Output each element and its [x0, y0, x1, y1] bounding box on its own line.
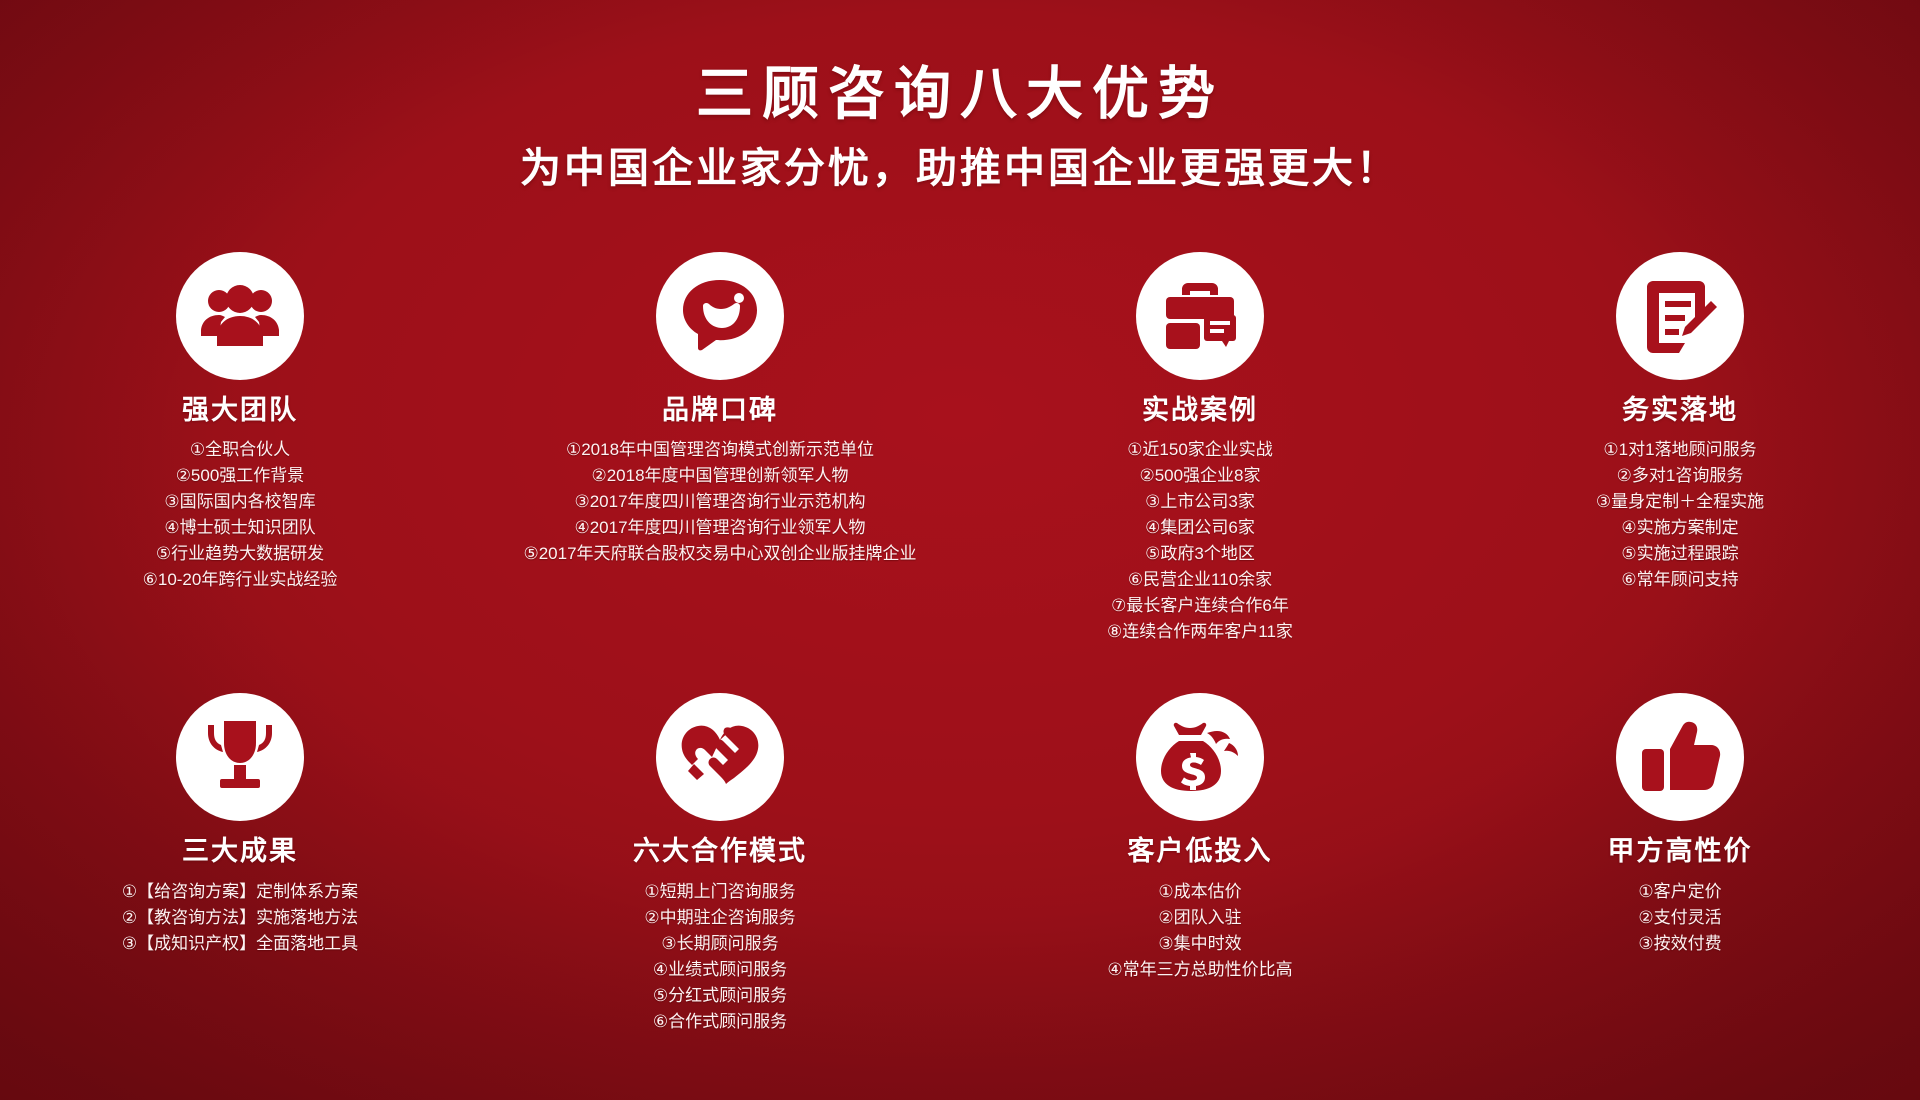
- list-item: ①近150家企业实战: [1107, 437, 1293, 463]
- list-item: ③【成知识产权】全面落地工具: [122, 931, 358, 957]
- list-item: ④博士硕士知识团队: [143, 515, 338, 541]
- list-item: ⑦最长客户连续合作6年: [1107, 593, 1293, 619]
- card-title: 甲方高性价: [1608, 835, 1753, 867]
- list-item: ⑤2017年天府联合股权交易中心双创企业版挂牌企业: [523, 541, 916, 567]
- card-title: 强大团队: [182, 394, 298, 426]
- page-subtitle: 为中国企业家分忧，助推中国企业更强更大！: [0, 144, 1920, 193]
- page-title: 三顾咨询八大优势: [0, 62, 1920, 128]
- advantage-card-results[interactable]: 三大成果 ①【给咨询方案】定制体系方案 ②【教咨询方法】实施落地方法 ③【成知识…: [0, 693, 480, 1034]
- poster-canvas: 三顾咨询八大优势 为中国企业家分忧，助推中国企业更强更大！ 强大团队: [0, 0, 1920, 1100]
- list-item: ⑥民营企业110余家: [1107, 567, 1293, 593]
- card-list: ①近150家企业实战 ②500强企业8家 ③上市公司3家 ④集团公司6家 ⑤政府…: [1107, 437, 1293, 645]
- list-item: ①【给咨询方案】定制体系方案: [122, 879, 358, 905]
- list-item: ②500强企业8家: [1107, 463, 1293, 489]
- card-title: 实战案例: [1142, 394, 1258, 426]
- list-item: ②中期驻企咨询服务: [644, 905, 795, 931]
- list-item: ②2018年度中国管理创新领军人物: [523, 463, 916, 489]
- list-item: ③量身定制＋全程实施: [1596, 489, 1764, 515]
- advantage-card-execution[interactable]: 务实落地 ①1对1落地顾问服务 ②多对1咨询服务 ③量身定制＋全程实施 ④实施方…: [1440, 252, 1920, 645]
- card-title: 六大合作模式: [633, 835, 807, 867]
- card-list: ①短期上门咨询服务 ②中期驻企咨询服务 ③长期顾问服务 ④业绩式顾问服务 ⑤分红…: [644, 879, 795, 1035]
- advantage-card-low-cost[interactable]: 客户低投入 ①成本估价 ②团队入驻 ③集中时效 ④常年三方总助性价比高: [960, 693, 1440, 1034]
- heading-block: 三顾咨询八大优势 为中国企业家分忧，助推中国企业更强更大！: [0, 62, 1920, 193]
- money-bag-icon: [1136, 693, 1264, 821]
- advantage-card-team[interactable]: 强大团队 ①全职合伙人 ②500强工作背景 ③国际国内各校智库 ④博士硕士知识团…: [0, 252, 480, 645]
- advantages-row-top: 强大团队 ①全职合伙人 ②500强工作背景 ③国际国内各校智库 ④博士硕士知识团…: [0, 252, 1920, 645]
- list-item: ①2018年中国管理咨询模式创新示范单位: [523, 437, 916, 463]
- list-item: ⑤行业趋势大数据研发: [143, 541, 338, 567]
- trophy-icon: [176, 693, 304, 821]
- list-item: ①全职合伙人: [143, 437, 338, 463]
- list-item: ④集团公司6家: [1107, 515, 1293, 541]
- list-item: ⑧连续合作两年客户11家: [1107, 619, 1293, 645]
- list-item: ①客户定价: [1638, 879, 1721, 905]
- card-list: ①【给咨询方案】定制体系方案 ②【教咨询方法】实施落地方法 ③【成知识产权】全面…: [122, 879, 358, 957]
- thumbs-up-icon: [1616, 693, 1744, 821]
- list-item: ①短期上门咨询服务: [644, 879, 795, 905]
- card-title: 品牌口碑: [662, 394, 778, 426]
- list-item: ⑥合作式顾问服务: [644, 1009, 795, 1035]
- list-item: ⑤政府3个地区: [1107, 541, 1293, 567]
- card-list: ①1对1落地顾问服务 ②多对1咨询服务 ③量身定制＋全程实施 ④实施方案制定 ⑤…: [1596, 437, 1764, 593]
- advantage-card-value[interactable]: 甲方高性价 ①客户定价 ②支付灵活 ③按效付费: [1440, 693, 1920, 1034]
- list-item: ④2017年度四川管理咨询行业领军人物: [523, 515, 916, 541]
- list-item: ①成本估价: [1107, 879, 1292, 905]
- advantages-row-bottom: 三大成果 ①【给咨询方案】定制体系方案 ②【教咨询方法】实施落地方法 ③【成知识…: [0, 693, 1920, 1034]
- advantages-grid: 强大团队 ①全职合伙人 ②500强工作背景 ③国际国内各校智库 ④博士硕士知识团…: [0, 252, 1920, 1035]
- card-list: ①客户定价 ②支付灵活 ③按效付费: [1638, 879, 1721, 957]
- list-item: ④常年三方总助性价比高: [1107, 957, 1292, 983]
- list-item: ③2017年度四川管理咨询行业示范机构: [523, 489, 916, 515]
- advantage-card-cases[interactable]: 实战案例 ①近150家企业实战 ②500强企业8家 ③上市公司3家 ④集团公司6…: [960, 252, 1440, 645]
- list-item: ④实施方案制定: [1596, 515, 1764, 541]
- card-title: 务实落地: [1622, 394, 1738, 426]
- list-item: ②500强工作背景: [143, 463, 338, 489]
- list-item: ②多对1咨询服务: [1596, 463, 1764, 489]
- list-item: ①1对1落地顾问服务: [1596, 437, 1764, 463]
- list-item: ②团队入驻: [1107, 905, 1292, 931]
- list-item: ③上市公司3家: [1107, 489, 1293, 515]
- card-list: ①2018年中国管理咨询模式创新示范单位 ②2018年度中国管理创新领军人物 ③…: [523, 437, 916, 567]
- list-item: ③长期顾问服务: [644, 931, 795, 957]
- card-title: 客户低投入: [1128, 835, 1273, 867]
- list-item: ⑤实施过程跟踪: [1596, 541, 1764, 567]
- list-item: ④业绩式顾问服务: [644, 957, 795, 983]
- card-title: 三大成果: [182, 835, 298, 867]
- people-group-icon: [176, 252, 304, 380]
- card-list: ①全职合伙人 ②500强工作背景 ③国际国内各校智库 ④博士硕士知识团队 ⑤行业…: [143, 437, 338, 593]
- list-item: ②【教咨询方法】实施落地方法: [122, 905, 358, 931]
- handshake-heart-icon: [656, 693, 784, 821]
- list-item: ②支付灵活: [1638, 905, 1721, 931]
- list-item: ⑥10-20年跨行业实战经验: [143, 567, 338, 593]
- list-item: ⑥常年顾问支持: [1596, 567, 1764, 593]
- card-list: ①成本估价 ②团队入驻 ③集中时效 ④常年三方总助性价比高: [1107, 879, 1292, 983]
- list-item: ③国际国内各校智库: [143, 489, 338, 515]
- smiley-speech-bubble-icon: [656, 252, 784, 380]
- list-item: ③按效付费: [1638, 931, 1721, 957]
- list-item: ③集中时效: [1107, 931, 1292, 957]
- advantage-card-brand[interactable]: 品牌口碑 ①2018年中国管理咨询模式创新示范单位 ②2018年度中国管理创新领…: [480, 252, 960, 645]
- briefcase-case-study-icon: [1136, 252, 1264, 380]
- clipboard-pen-icon: [1616, 252, 1744, 380]
- list-item: ⑤分红式顾问服务: [644, 983, 795, 1009]
- advantage-card-cooperation[interactable]: 六大合作模式 ①短期上门咨询服务 ②中期驻企咨询服务 ③长期顾问服务 ④业绩式顾…: [480, 693, 960, 1034]
